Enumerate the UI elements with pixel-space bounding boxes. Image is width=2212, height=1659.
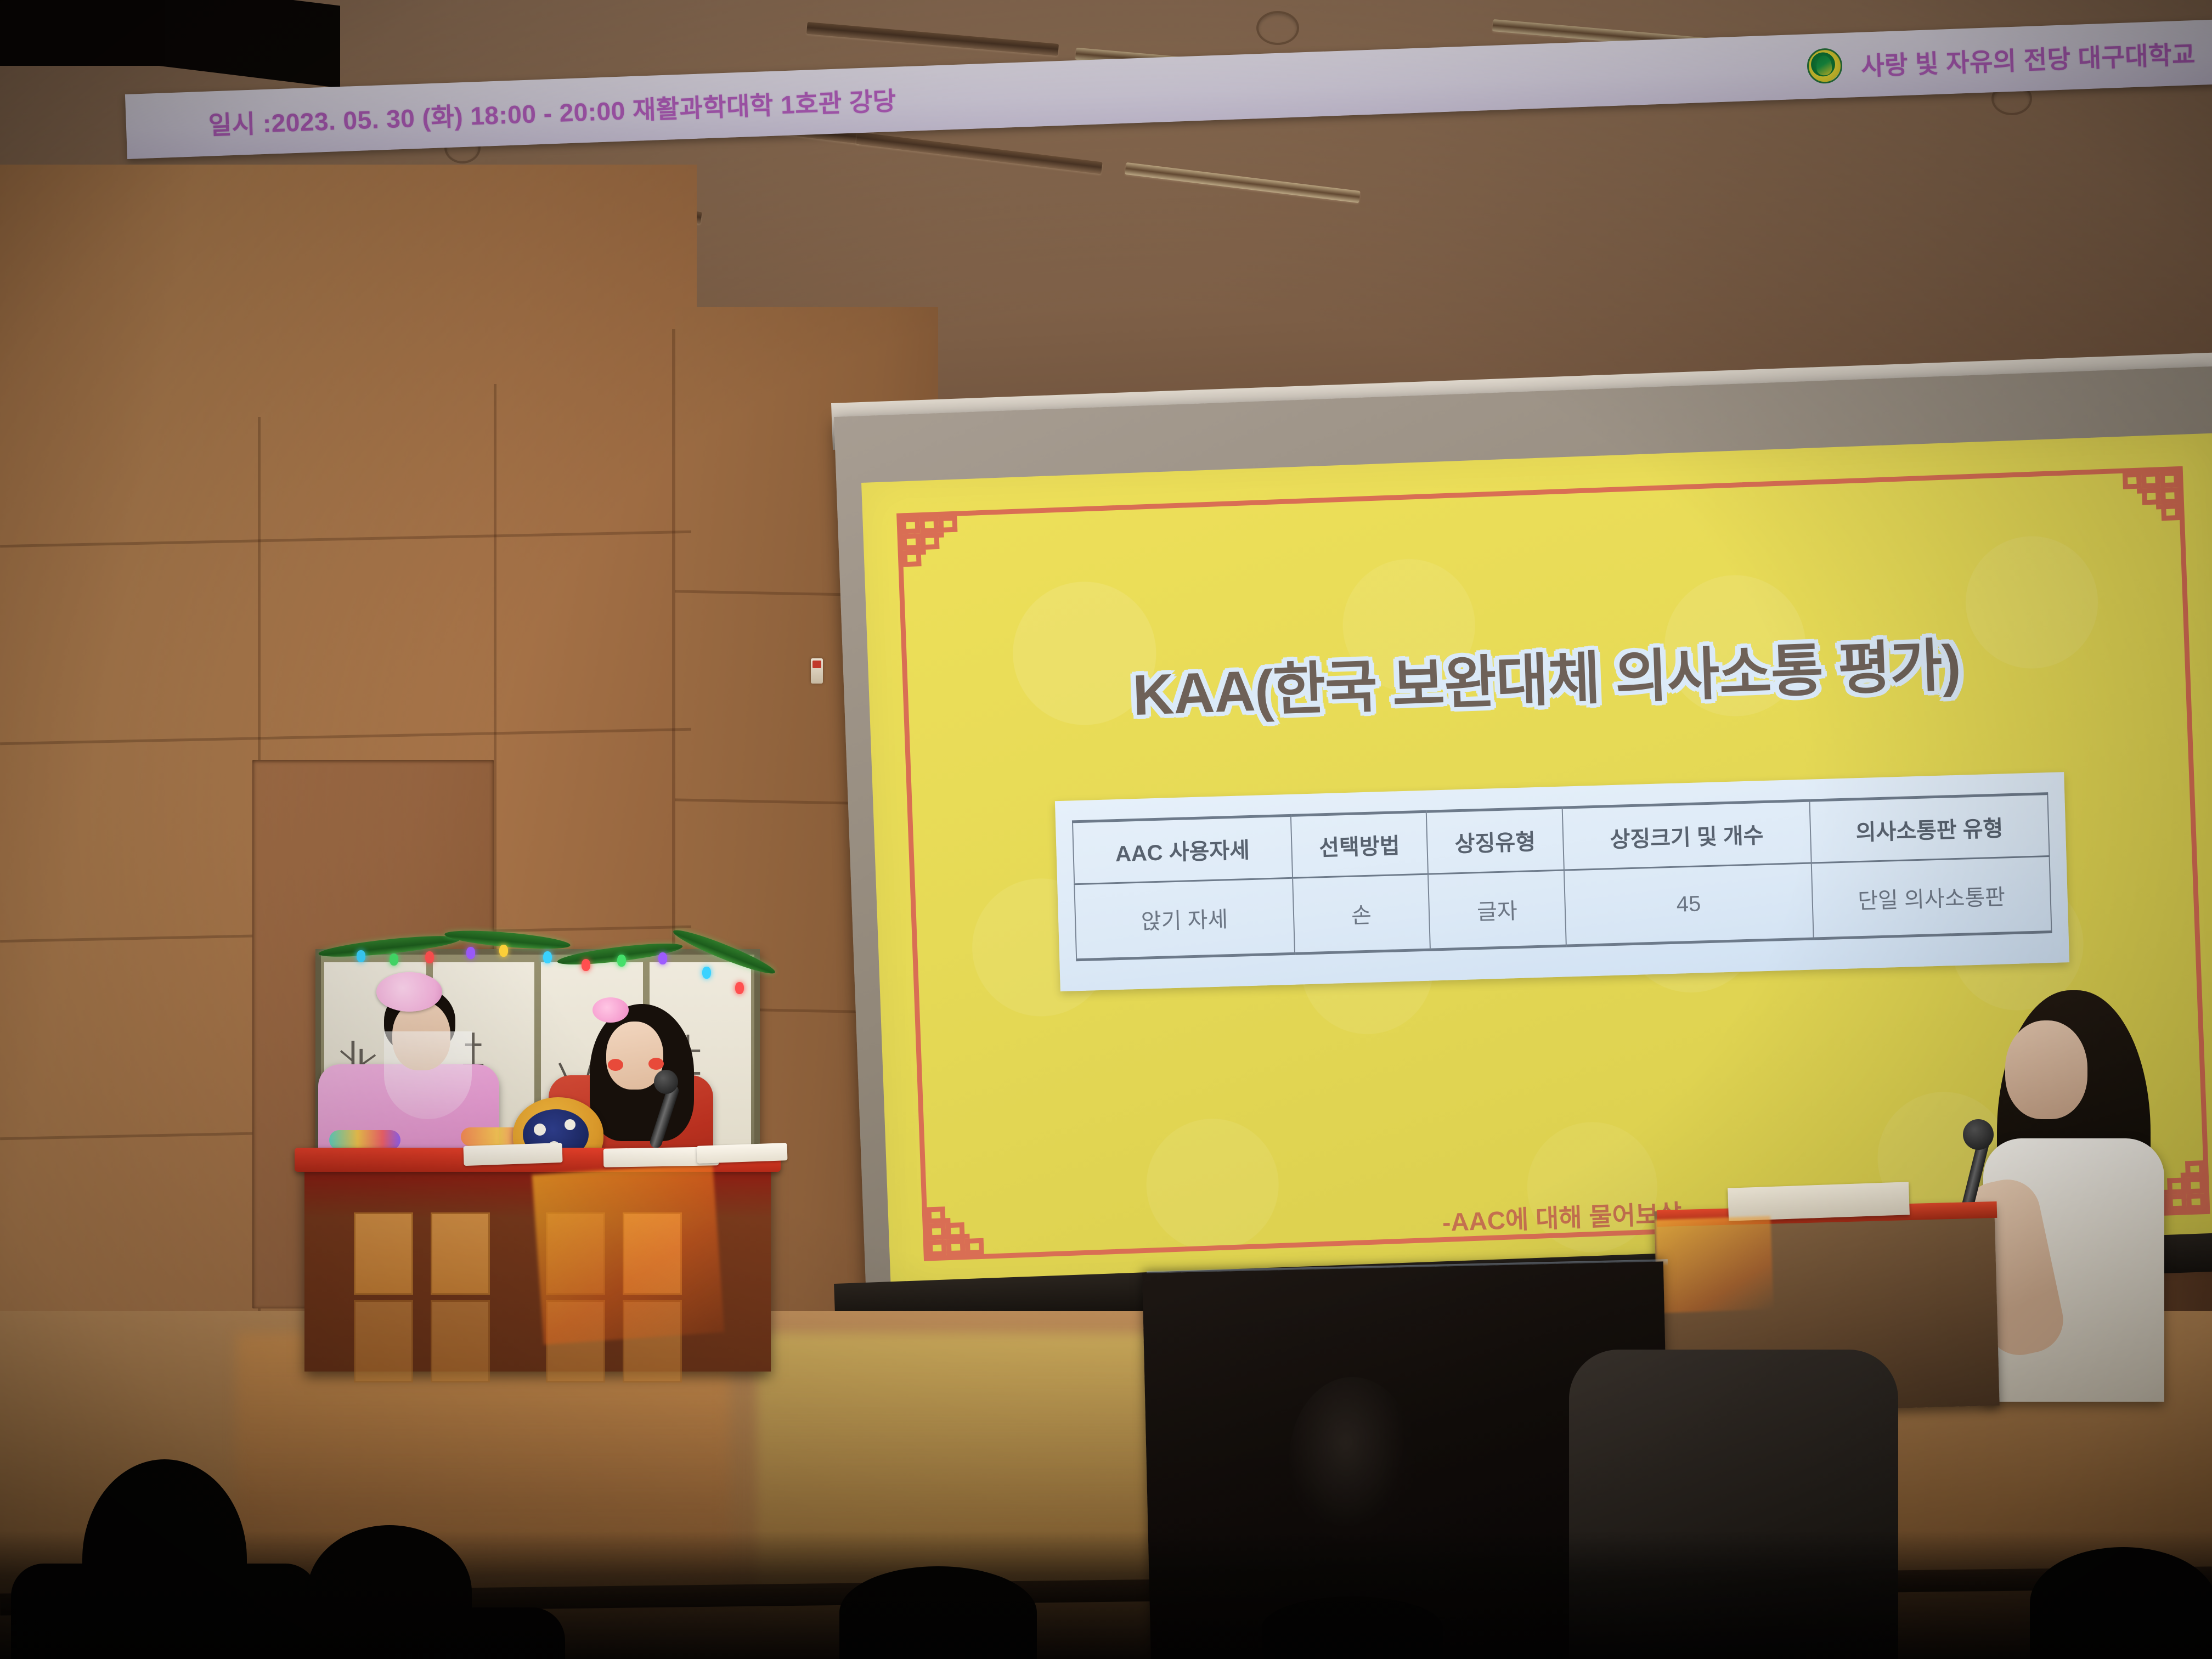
sleeve-trim (329, 1130, 400, 1150)
speaker-cone-icon (1289, 1377, 1415, 1542)
kaa-table-panel: AAC 사용자세 선택방법 상징유형 상징크기 및 개수 의사소통판 유형 앉기… (1055, 772, 2069, 991)
projector-light-spill (532, 1163, 725, 1345)
banner-schedule-text: 일시 :2023. 05. 30 (화) 18:00 - 20:00 재활과학대… (208, 81, 897, 142)
podium-light-spill (1655, 1216, 1774, 1313)
table-header-cell: 상징크기 및 개수 (1562, 800, 1811, 870)
ceiling-shadow-block-secondary (0, 0, 165, 66)
daegu-university-logo-icon (1807, 48, 1843, 84)
hair-flower-ornament (376, 972, 442, 1012)
banner-university-text: 사랑 빛 자유의 전당 대구대학교 (1860, 35, 2196, 83)
cheek-makeup (648, 1058, 664, 1070)
table-header-cell: AAC 사용자세 (1073, 815, 1293, 884)
script-paper (696, 1143, 787, 1164)
table-cell: 45 (1564, 863, 1814, 946)
fire-alarm-icon (811, 658, 823, 684)
table-cell: 글자 (1428, 870, 1566, 950)
kaa-assessment-table: AAC 사용자세 선택방법 상징유형 상징크기 및 개수 의사소통판 유형 앉기… (1072, 792, 2052, 961)
table-header-cell: 선택방법 (1290, 811, 1428, 878)
slide-corner-ornament (2121, 466, 2185, 530)
foreground-darkness (0, 1531, 2212, 1659)
table-cell: 단일 의사소통판 (1812, 856, 2052, 939)
presenter-head (2005, 1020, 2087, 1119)
hair-flower-ornament (592, 997, 629, 1023)
ceiling-fixture-circle-icon (1256, 11, 1299, 45)
table-cell: 손 (1293, 874, 1430, 953)
podium-papers (1728, 1182, 1910, 1221)
microphone-head-icon (1963, 1119, 1994, 1150)
bridal-veil (384, 1031, 472, 1119)
cheek-makeup (608, 1059, 623, 1071)
auditorium-photo-scene: 일시 :2023. 05. 30 (화) 18:00 - 20:00 재활과학대… (0, 0, 2212, 1659)
table-header-cell: 상징유형 (1426, 808, 1564, 874)
table-cell: 앉기 자세 (1074, 878, 1294, 960)
table-header-cell: 의사소통판 유형 (1809, 794, 2049, 863)
microphone-head-icon (654, 1070, 678, 1094)
slide-corner-ornament (896, 511, 960, 575)
script-paper (463, 1143, 562, 1166)
